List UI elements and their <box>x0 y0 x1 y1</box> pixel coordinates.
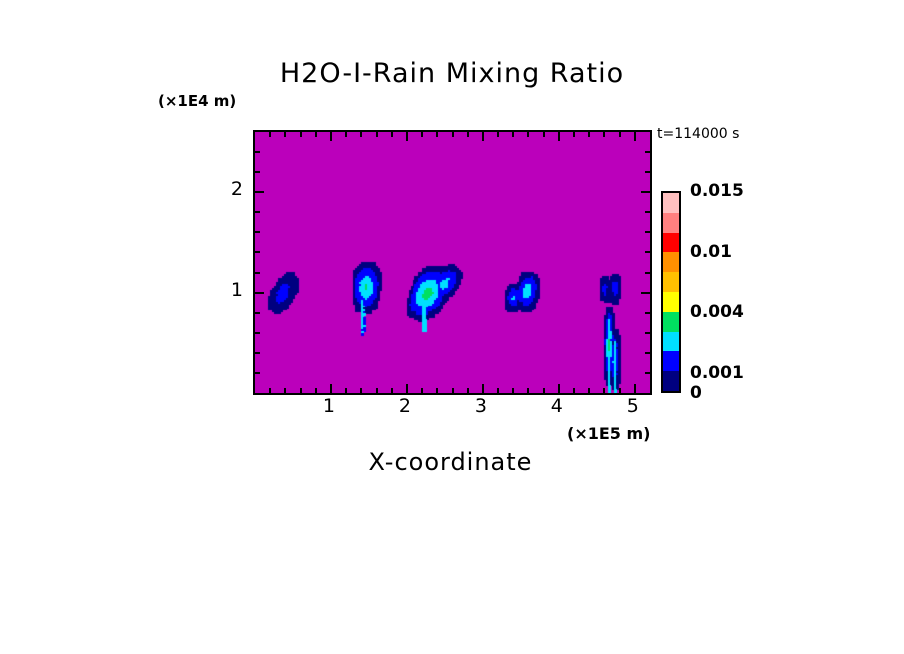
x-tick-label: 2 <box>385 395 425 417</box>
x-tick-top-minor <box>315 132 317 137</box>
colorbar-tick-label: 0 <box>690 383 702 403</box>
y-tick-right-major <box>641 191 650 193</box>
x-tick-minor <box>284 388 286 393</box>
x-tick-top-minor <box>269 132 271 137</box>
y-tick-right-minor <box>645 312 650 314</box>
y-tick-minor <box>255 352 260 354</box>
x-tick-major <box>330 384 332 393</box>
x-tick-top-minor <box>376 132 378 137</box>
x-tick-top-major <box>558 132 560 141</box>
colorbar-segment <box>663 292 679 312</box>
x-tick-top-minor <box>619 132 621 137</box>
y-tick-right-minor <box>645 332 650 334</box>
colorbar[interactable] <box>661 191 681 393</box>
y-tick-right-minor <box>645 352 650 354</box>
x-tick-minor <box>421 388 423 393</box>
y-tick-minor <box>255 151 260 153</box>
x-axis-unit-label: (×1E5 m) <box>567 424 650 443</box>
y-tick-right-minor <box>645 372 650 374</box>
figure-canvas: H2O-I-Rain Mixing Ratio (×1E4 m) t=11400… <box>0 0 904 654</box>
x-tick-minor <box>391 388 393 393</box>
y-tick-right-minor <box>645 251 650 253</box>
x-tick-label: 1 <box>309 395 349 417</box>
x-tick-minor <box>360 388 362 393</box>
x-tick-top-minor <box>603 132 605 137</box>
x-tick-minor <box>543 388 545 393</box>
y-axis-title: Z-coordinate <box>0 49 2 299</box>
x-tick-label: 4 <box>537 395 577 417</box>
colorbar-segment <box>663 272 679 292</box>
x-tick-top-minor <box>527 132 529 137</box>
x-tick-top-major <box>406 132 408 141</box>
y-tick-minor <box>255 171 260 173</box>
x-tick-top-minor <box>467 132 469 137</box>
x-tick-top-major <box>330 132 332 141</box>
y-tick-minor <box>255 272 260 274</box>
x-tick-top-minor <box>497 132 499 137</box>
y-tick-major <box>255 191 264 193</box>
colorbar-tick-label: 0.004 <box>690 302 744 322</box>
y-tick-minor <box>255 372 260 374</box>
colorbar-segment <box>663 252 679 272</box>
y-tick-right-minor <box>645 231 650 233</box>
y-tick-right-minor <box>645 171 650 173</box>
page-title: H2O-I-Rain Mixing Ratio <box>0 58 904 89</box>
x-tick-major <box>406 384 408 393</box>
time-annotation: t=114000 s <box>657 126 739 142</box>
x-tick-minor <box>300 388 302 393</box>
x-tick-top-minor <box>421 132 423 137</box>
x-tick-minor <box>269 388 271 393</box>
x-tick-minor <box>436 388 438 393</box>
x-tick-top-minor <box>360 132 362 137</box>
x-tick-top-minor <box>284 132 286 137</box>
x-tick-minor <box>497 388 499 393</box>
colorbar-tick-label: 0.015 <box>690 181 744 201</box>
colorbar-tick-label: 0.001 <box>690 363 744 383</box>
colorbar-segment <box>663 351 679 371</box>
colorbar-segment <box>663 213 679 233</box>
x-tick-top-minor <box>391 132 393 137</box>
x-tick-label: 5 <box>613 395 653 417</box>
x-tick-minor <box>345 388 347 393</box>
y-tick-minor <box>255 251 260 253</box>
colorbar-segment <box>663 332 679 352</box>
colorbar-segment <box>663 233 679 253</box>
colorbar-segment <box>663 193 679 213</box>
x-tick-minor <box>452 388 454 393</box>
x-tick-top-minor <box>300 132 302 137</box>
x-tick-minor <box>603 388 605 393</box>
x-tick-minor <box>527 388 529 393</box>
x-tick-minor <box>512 388 514 393</box>
x-tick-top-minor <box>543 132 545 137</box>
y-tick-minor <box>255 231 260 233</box>
x-tick-top-minor <box>512 132 514 137</box>
colorbar-segment <box>663 371 679 391</box>
x-tick-minor <box>573 388 575 393</box>
x-tick-major <box>482 384 484 393</box>
y-tick-major <box>255 292 264 294</box>
x-tick-minor <box>619 388 621 393</box>
x-tick-minor <box>588 388 590 393</box>
x-tick-top-major <box>634 132 636 141</box>
y-tick-right-major <box>641 292 650 294</box>
y-tick-right-minor <box>645 211 650 213</box>
y-axis-unit-label: (×1E4 m) <box>158 92 236 110</box>
x-tick-top-minor <box>452 132 454 137</box>
y-tick-right-minor <box>645 272 650 274</box>
colorbar-tick-label: 0.01 <box>690 242 732 262</box>
y-tick-label: 1 <box>203 279 243 301</box>
y-tick-right-minor <box>645 151 650 153</box>
heatmap-canvas <box>255 132 650 393</box>
x-tick-major <box>558 384 560 393</box>
colorbar-segment <box>663 312 679 332</box>
x-tick-minor <box>376 388 378 393</box>
y-tick-minor <box>255 332 260 334</box>
x-tick-top-minor <box>345 132 347 137</box>
x-tick-top-major <box>482 132 484 141</box>
y-tick-label: 2 <box>203 178 243 200</box>
x-tick-major <box>634 384 636 393</box>
x-tick-label: 3 <box>461 395 501 417</box>
x-axis-title: X-coordinate <box>253 448 648 476</box>
y-tick-minor <box>255 312 260 314</box>
plot-area[interactable] <box>253 130 652 395</box>
x-tick-top-minor <box>588 132 590 137</box>
x-tick-minor <box>467 388 469 393</box>
x-tick-minor <box>315 388 317 393</box>
x-tick-top-minor <box>436 132 438 137</box>
x-tick-top-minor <box>573 132 575 137</box>
y-tick-minor <box>255 211 260 213</box>
